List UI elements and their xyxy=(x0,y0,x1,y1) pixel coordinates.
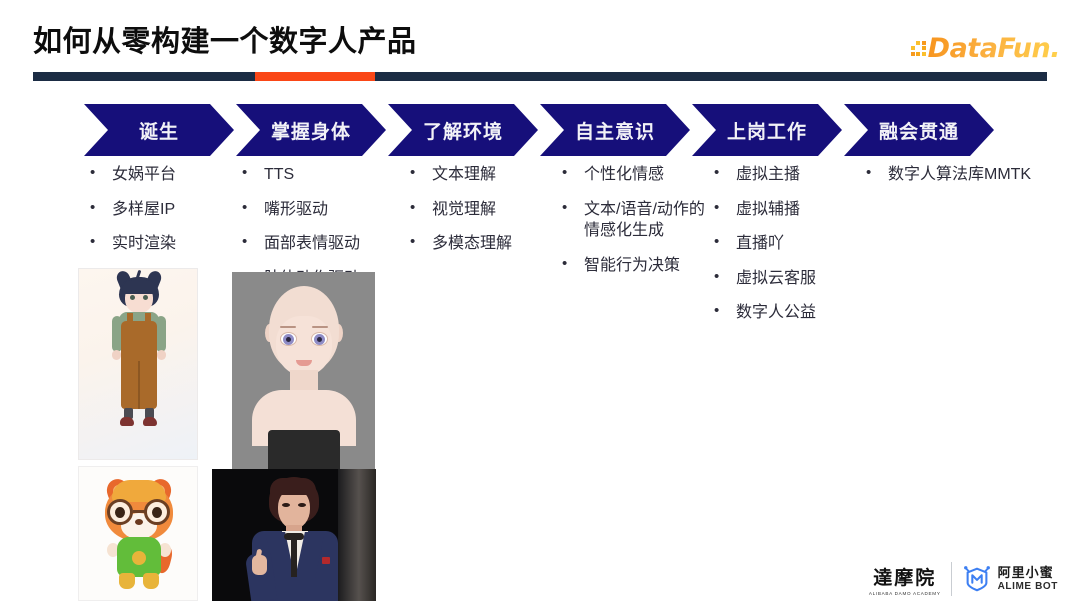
shoe-left xyxy=(120,417,134,426)
page-title: 如何从零构建一个数字人产品 xyxy=(33,27,417,59)
bullet-column-6: 数字人算法库MMTK xyxy=(860,164,1080,337)
fox-eye-right xyxy=(152,507,162,518)
bullet-column-5: 虚拟主播 虚拟辅播 直播吖 虚拟云客服 数字人公益 xyxy=(708,164,860,337)
footer-logos: 達摩院 ALIBABA DAMO ACADEMY 阿里小蜜 ALIME BOT xyxy=(869,562,1058,596)
list-item: 个性化情感 xyxy=(556,164,708,186)
fox-leg-left xyxy=(119,573,135,589)
chevron-label: 融会贯通 xyxy=(879,117,959,144)
bullet-column-3: 文本理解 视觉理解 多模态理解 xyxy=(404,164,556,337)
list-item: 虚拟主播 xyxy=(708,164,860,186)
fox-mascot-avatar-image xyxy=(78,466,198,601)
eye-left xyxy=(130,295,135,300)
fox-nose xyxy=(135,519,143,525)
chevron-label: 诞生 xyxy=(139,117,179,144)
damo-academy-en-label: ALIBABA DAMO ACADEMY xyxy=(869,591,941,596)
head-pupil-left xyxy=(286,337,291,342)
title-underline-rule xyxy=(33,72,1047,81)
list-item: 视觉理解 xyxy=(404,199,556,221)
realistic-virtual-anchor-image xyxy=(212,469,376,601)
alime-bot-cn-label: 阿里小蜜 xyxy=(998,565,1058,581)
fox-belly-patch xyxy=(132,551,146,565)
anchor-tie xyxy=(291,535,297,577)
chevron-stage-1[interactable]: 诞生 xyxy=(84,104,234,156)
list-item: 直播吖 xyxy=(708,233,860,255)
fox-eye-left xyxy=(115,507,125,518)
hand-left xyxy=(112,350,121,360)
chevron-stage-4[interactable]: 自主意识 xyxy=(540,104,690,156)
list-item: 多模态理解 xyxy=(404,233,556,255)
fox-leg-right xyxy=(143,573,159,589)
chevron-stage-3[interactable]: 了解环境 xyxy=(388,104,538,156)
anchor-face xyxy=(278,489,310,529)
list-item: 女娲平台 xyxy=(84,164,236,186)
head-garment xyxy=(268,430,340,472)
anchor-lapel-pin xyxy=(322,557,330,564)
slide-root: 如何从零构建一个数字人产品 DataFun. 诞生 掌握身体 了解环境 自主意识… xyxy=(0,0,1080,608)
chevron-label: 了解环境 xyxy=(423,117,503,144)
damo-academy-cn-label: 達摩院 xyxy=(873,563,936,590)
head-pupil-right xyxy=(317,337,322,342)
3d-head-model-image xyxy=(232,272,375,472)
list-item: 实时渲染 xyxy=(84,233,236,255)
head-brow-right xyxy=(312,326,328,328)
list-item: 智能行为决策 xyxy=(556,255,708,277)
chevron-label: 自主意识 xyxy=(575,117,655,144)
alime-robot-icon xyxy=(962,564,992,594)
chevron-stage-5[interactable]: 上岗工作 xyxy=(692,104,842,156)
alime-bot-en-label: ALIME BOT xyxy=(998,581,1058,594)
chevron-label: 掌握身体 xyxy=(271,117,351,144)
chevron-label: 上岗工作 xyxy=(727,117,807,144)
anime-avatar-fullbody-image xyxy=(78,268,198,460)
anchor-eye-left xyxy=(282,503,290,507)
list-item: 面部表情驱动 xyxy=(236,233,404,255)
chevron-stage-2[interactable]: 掌握身体 xyxy=(236,104,386,156)
list-item: 虚拟辅播 xyxy=(708,199,860,221)
anchor-background-pillar xyxy=(338,469,376,601)
anchor-eye-right xyxy=(298,503,306,507)
datafun-wordmark: DataFun. xyxy=(928,33,1060,64)
list-item: 嘴形驱动 xyxy=(236,199,404,221)
list-item: TTS xyxy=(236,164,404,186)
head-face-shape xyxy=(276,316,332,376)
leg-seam xyxy=(138,361,140,409)
head-brow-left xyxy=(280,326,296,328)
list-item: 多样屋IP xyxy=(84,199,236,221)
bullet-column-4: 个性化情感 文本/语音/动作的情感化生成 智能行为决策 xyxy=(556,164,708,337)
list-item: 数字人公益 xyxy=(708,302,860,324)
list-item: 数字人算法库MMTK xyxy=(860,164,1080,186)
damo-academy-logo: 達摩院 ALIBABA DAMO ACADEMY xyxy=(869,563,941,596)
alime-bot-logo: 阿里小蜜 ALIME BOT xyxy=(962,564,1058,594)
datafun-dots-icon xyxy=(911,41,926,56)
shoe-right xyxy=(143,417,157,426)
list-item: 虚拟云客服 xyxy=(708,268,860,290)
pipeline-chevron-row: 诞生 掌握身体 了解环境 自主意识 上岗工作 融会贯通 xyxy=(84,104,996,156)
footer-logo-divider xyxy=(951,562,952,596)
hand-right xyxy=(157,350,166,360)
datafun-logo: DataFun. xyxy=(911,33,1060,63)
list-item: 文本理解 xyxy=(404,164,556,186)
title-underline-accent xyxy=(255,72,375,81)
bangs-shape xyxy=(122,280,156,294)
list-item: 文本/语音/动作的情感化生成 xyxy=(556,199,708,242)
chevron-stage-6[interactable]: 融会贯通 xyxy=(844,104,994,156)
anchor-fringe xyxy=(270,478,316,495)
eye-right xyxy=(143,295,148,300)
